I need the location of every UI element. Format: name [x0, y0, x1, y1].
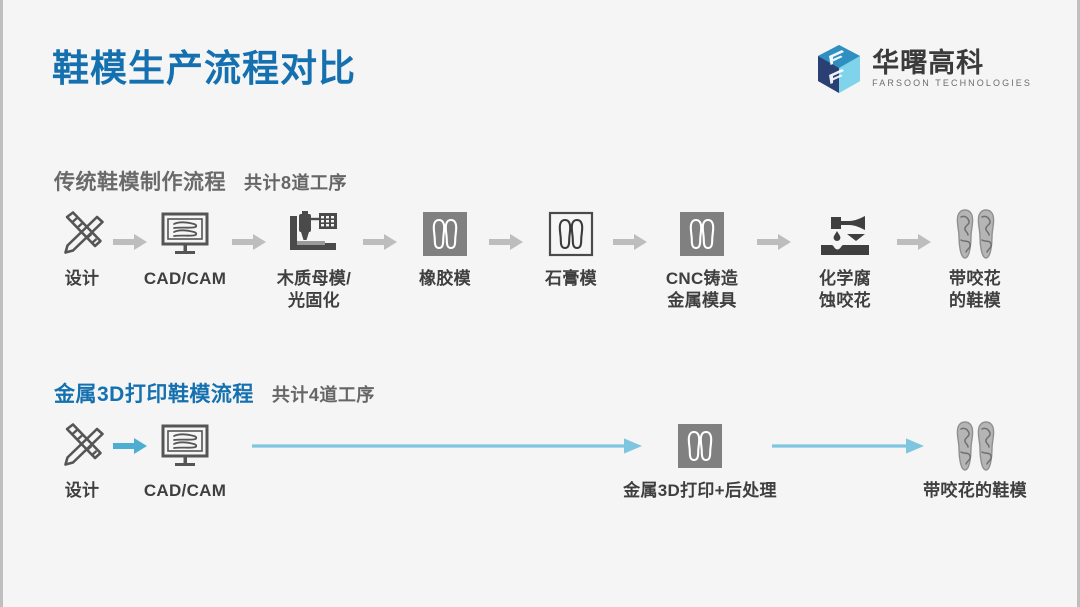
step-node-design-2[interactable]: 设计 — [48, 418, 116, 502]
step-label: 设计 — [65, 268, 100, 290]
step-label: CNC铸造 金属模具 — [666, 268, 738, 312]
step-label: 石膏模 — [545, 268, 597, 290]
flow-arrow-icon — [757, 234, 791, 250]
step-node-textured-shoe-mold[interactable]: 带咬花 的鞋模 — [933, 206, 1017, 312]
section-count-traditional: 共计8道工序 — [244, 169, 347, 195]
step-label: 带咬花 的鞋模 — [949, 268, 1001, 312]
left-edge-strip — [0, 0, 3, 607]
step-node-textured-shoe-mold-2[interactable]: 带咬花的鞋模 — [900, 418, 1050, 502]
monitor-cad-icon — [158, 418, 212, 474]
step-label: 橡胶模 — [419, 268, 471, 290]
step-label: 金属3D打印+后处理 — [623, 480, 777, 502]
step-label: CAD/CAM — [144, 268, 226, 290]
step-node-rubber-mold[interactable]: 橡胶模 — [398, 206, 492, 290]
flow-arrow-icon — [489, 234, 523, 250]
step-node-cadcam-2[interactable]: CAD/CAM — [130, 418, 240, 502]
filled-square-soles-icon — [678, 206, 726, 262]
step-node-wood-master-mold[interactable]: 木质母模/ 光固化 — [256, 206, 372, 312]
farsoon-cube-logo-icon — [816, 44, 862, 94]
company-logo: 华曙高科 FARSOON TECHNOLOGIES — [816, 44, 1032, 94]
step-node-cnc-cast-metal-mold[interactable]: CNC铸造 金属模具 — [647, 206, 757, 312]
cnc-laser-machine-icon — [285, 206, 343, 262]
step-label: 设计 — [65, 480, 100, 502]
step-node-plaster-mold[interactable]: 石膏模 — [524, 206, 618, 290]
page-title: 鞋模生产流程对比 — [52, 38, 356, 92]
monitor-cad-icon — [158, 206, 212, 262]
step-node-cadcam[interactable]: CAD/CAM — [130, 206, 240, 290]
section-heading-metal3d: 金属3D打印鞋模流程 共计4道工序 — [54, 378, 375, 408]
filled-square-soles-icon — [421, 206, 469, 262]
textured-soles-pair-icon — [946, 418, 1004, 474]
step-label: 化学腐 蚀咬花 — [819, 268, 871, 312]
step-label: CAD/CAM — [144, 480, 226, 502]
flow-arrow-icon — [897, 234, 931, 250]
chemical-etching-icon — [817, 206, 873, 262]
logo-text-block: 华曙高科 FARSOON TECHNOLOGIES — [872, 49, 1032, 89]
outlined-square-soles-icon — [547, 206, 595, 262]
slide-canvas: 鞋模生产流程对比 华曙高科 FARSOON TECHNOLOGIES 传统鞋模制… — [0, 0, 1080, 607]
step-node-chemical-etching[interactable]: 化学腐 蚀咬花 — [803, 206, 887, 312]
step-label: 木质母模/ 光固化 — [277, 268, 351, 312]
section-count-metal3d: 共计4道工序 — [272, 381, 375, 407]
step-node-design[interactable]: 设计 — [48, 206, 116, 290]
flow-arrow-icon — [613, 234, 647, 250]
section-title-traditional: 传统鞋模制作流程 — [54, 166, 226, 196]
section-title-metal3d: 金属3D打印鞋模流程 — [54, 378, 254, 408]
section-heading-traditional: 传统鞋模制作流程 共计8道工序 — [54, 166, 347, 196]
pencil-ruler-design-icon — [59, 206, 105, 262]
logo-english-name: FARSOON TECHNOLOGIES — [872, 79, 1032, 89]
logo-chinese-name: 华曙高科 — [872, 49, 1032, 77]
textured-soles-pair-icon — [946, 206, 1004, 262]
step-node-metal-3d-print[interactable]: 金属3D打印+后处理 — [600, 418, 800, 502]
step-label: 带咬花的鞋模 — [923, 480, 1027, 502]
pencil-ruler-design-icon — [59, 418, 105, 474]
filled-square-soles-icon — [676, 418, 724, 474]
flow-long-arrow-icon — [252, 438, 642, 454]
